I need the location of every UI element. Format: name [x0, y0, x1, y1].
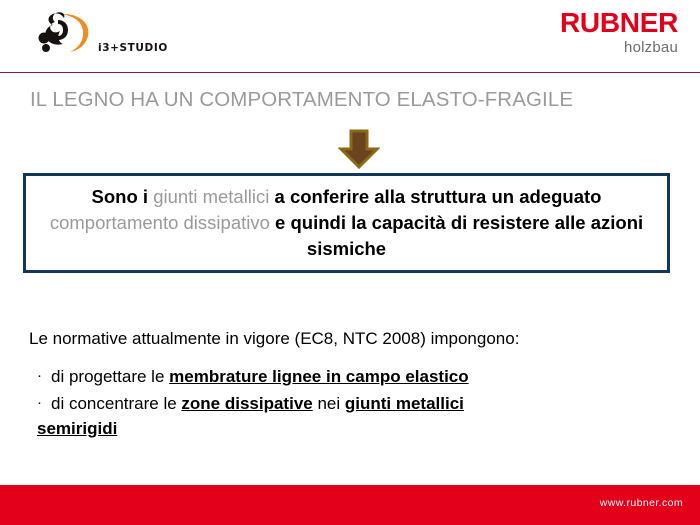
callout-text: Sono i giunti metallici a conferire alla…	[26, 184, 667, 263]
bullet2-wrap-line: semirigidi	[37, 418, 672, 441]
bullet2-emphasis2: giunti metallici	[345, 394, 464, 413]
intro-paragraph: Le normative attualmente in vigore (EC8,…	[29, 329, 679, 349]
callout-line1-a: Sono i	[92, 186, 154, 207]
slide-root: i3+STUDIO RUBNER holzbau IL LEGNO HA UN …	[0, 0, 700, 525]
list-item: · di concentrare le zone dissipative nei…	[37, 393, 672, 441]
bullet2-wrap-emphasis: semirigidi	[37, 419, 117, 438]
rubner-wordmark: RUBNER	[560, 9, 678, 37]
list-item-text: di concentrare le zone dissipative nei g…	[51, 393, 672, 441]
i3-studio-wordmark: i3+STUDIO	[98, 42, 168, 54]
bullet1-emphasis: membrature lignee in campo elastico	[169, 367, 468, 386]
list-item-text: di progettare le membrature lignee in ca…	[51, 366, 672, 389]
footer-url: www.rubner.com	[600, 497, 683, 509]
rubner-subbrand: holzbau	[560, 40, 678, 55]
i3-studio-logo: i3+STUDIO	[30, 10, 155, 58]
callout-line1-highlight: giunti metallici	[153, 186, 269, 207]
callout-line1-c: a conferire alla struttura un	[269, 186, 514, 207]
rubner-logo: RUBNER holzbau	[560, 9, 678, 55]
page-title: IL LEGNO HA UN COMPORTAMENTO ELASTO-FRAG…	[30, 88, 675, 112]
bullet2-lead: di concentrare le	[51, 394, 181, 413]
callout-box: Sono i giunti metallici a conferire alla…	[23, 173, 670, 273]
bullet2-mid: nei	[313, 394, 345, 413]
callout-line2-a: adeguato	[519, 186, 601, 207]
bullet-list: · di progettare le membrature lignee in …	[37, 366, 672, 445]
list-item: · di progettare le membrature lignee in …	[37, 366, 672, 389]
bullet2-emphasis: zone dissipative	[181, 394, 312, 413]
slide-header: i3+STUDIO RUBNER holzbau	[0, 0, 700, 73]
callout-line2-c: e quindi la capacità	[270, 212, 446, 233]
bullet-dot-icon: ·	[37, 366, 51, 386]
down-arrow-icon	[338, 129, 380, 169]
bullet1-lead: di progettare le	[51, 367, 169, 386]
callout-line2-highlight: comportamento dissipativo	[50, 212, 270, 233]
header-divider	[0, 72, 700, 73]
bullet-dot-icon: ·	[37, 393, 51, 413]
footer-bar: www.rubner.com	[0, 485, 700, 525]
